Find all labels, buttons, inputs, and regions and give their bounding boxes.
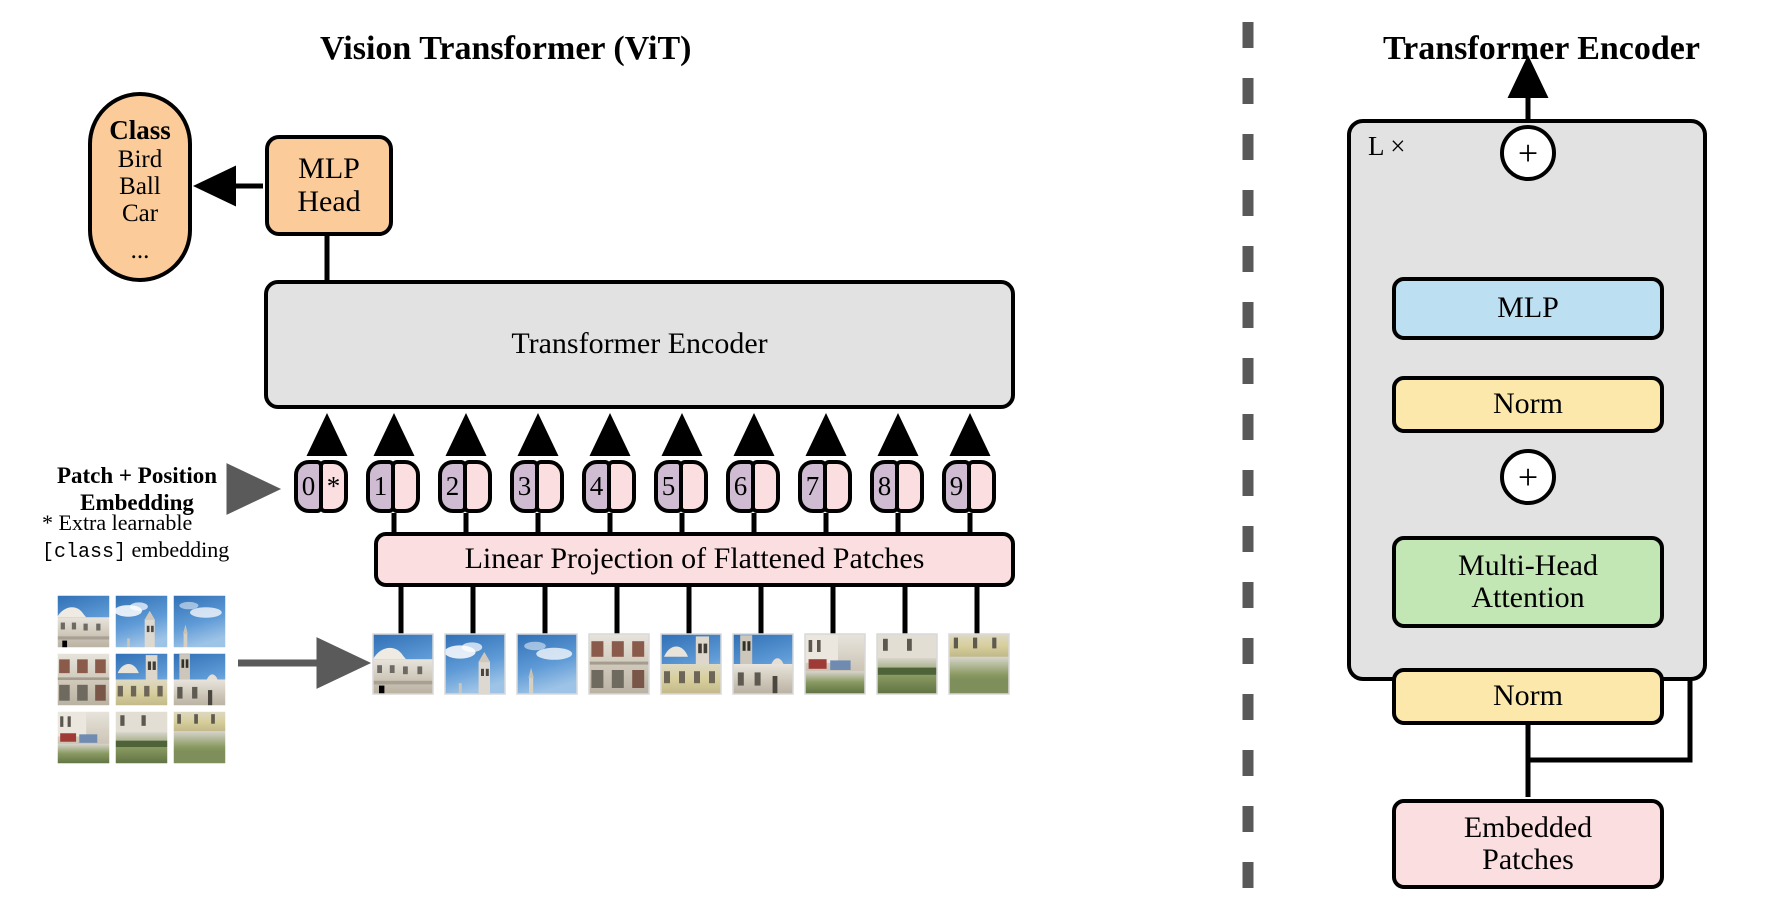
token-pill-1: 1 [366, 460, 420, 513]
token-pill-3: 3 [510, 460, 564, 513]
residual-add-top: + [1500, 125, 1556, 181]
class-ellipsis: ... [131, 237, 150, 264]
diagram-canvas: Vision Transformer (ViT) Class Bird Ball… [0, 0, 1783, 918]
encoder-panel-title: Transformer Encoder [1383, 30, 1700, 68]
token-embedding-6 [751, 460, 780, 513]
embedded-patches-block: Embedded Patches [1392, 799, 1664, 889]
norm-upper-label: Norm [1493, 388, 1563, 420]
token-embedding-9 [967, 460, 996, 513]
extra-learnable-note: * Extra learnable [class] embedding [42, 510, 257, 565]
transformer-encoder-box: Transformer Encoder [264, 280, 1015, 409]
token-pill-7: 7 [798, 460, 852, 513]
embedded-patches-line1: Embedded [1464, 812, 1592, 844]
token-embedding-5 [679, 460, 708, 513]
class-output-box: Class Bird Ball Car ... [88, 92, 192, 282]
mlp-block-label: MLP [1497, 292, 1559, 324]
linear-projection-box: Linear Projection of Flattened Patches [374, 532, 1015, 587]
token-pill-0: 0* [294, 460, 348, 513]
token-pill-6: 6 [726, 460, 780, 513]
flattened-patch-strip [373, 634, 1009, 694]
token-embedding-2 [463, 460, 492, 513]
mha-line2: Attention [1471, 582, 1584, 614]
page-title: Vision Transformer (ViT) [320, 30, 691, 68]
token-pill-5: 5 [654, 460, 708, 513]
mlp-head-box: MLP Head [265, 135, 393, 236]
embedded-patches-line2: Patches [1482, 844, 1574, 876]
extra-text1: Extra learnable [59, 510, 193, 535]
mha-line1: Multi-Head [1458, 550, 1598, 582]
token-embedding-8 [895, 460, 924, 513]
token-embedding-1 [391, 460, 420, 513]
token-pill-2: 2 [438, 460, 492, 513]
source-image-grid [57, 595, 226, 764]
class-item-ball: Ball [119, 173, 161, 200]
class-token-mono: [class] [42, 541, 126, 564]
norm-block-lower: Norm [1392, 668, 1664, 725]
token-embedding-0: * [319, 460, 348, 513]
residual-add-mid: + [1500, 449, 1556, 505]
extra-text2: embedding [132, 537, 230, 562]
patch-position-embedding-label: Patch + Position Embedding [42, 462, 232, 516]
class-heading: Class [109, 116, 171, 145]
token-pill-8: 8 [870, 460, 924, 513]
token-embedding-3 [535, 460, 564, 513]
token-embedding-7 [823, 460, 852, 513]
class-item-bird: Bird [118, 146, 162, 173]
class-item-car: Car [122, 200, 158, 227]
norm-lower-label: Norm [1493, 680, 1563, 712]
mlp-block: MLP [1392, 277, 1664, 340]
mlp-head-line2: Head [297, 186, 360, 218]
token-embedding-4 [607, 460, 636, 513]
norm-block-upper: Norm [1392, 376, 1664, 433]
linear-projection-label: Linear Projection of Flattened Patches [465, 543, 925, 575]
token-pill-4: 4 [582, 460, 636, 513]
token-pill-9: 9 [942, 460, 996, 513]
repeat-count-label: L × [1368, 131, 1405, 162]
multi-head-attention-block: Multi-Head Attention [1392, 536, 1664, 628]
patch-position-line1: Patch + Position [42, 462, 232, 489]
mlp-head-line1: MLP [298, 153, 360, 185]
extra-star: * [42, 510, 53, 535]
transformer-encoder-label: Transformer Encoder [511, 328, 767, 360]
